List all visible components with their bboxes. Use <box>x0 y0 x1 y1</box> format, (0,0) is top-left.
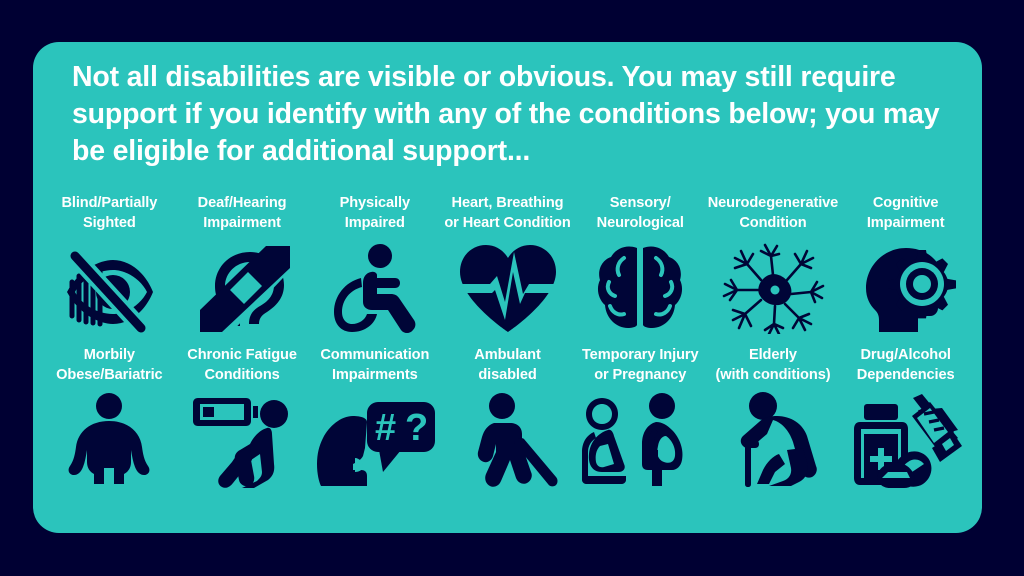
condition-label: Sensory/ Neurological <box>597 194 684 233</box>
head-gear-icon <box>856 242 956 334</box>
condition-row-1: Blind/Partially Sighted Deaf/Hearing <box>43 194 972 334</box>
condition-item-temporary-injury-pregnancy[interactable]: Temporary Injury or Pregnancy <box>574 346 707 486</box>
person-white-cane-icon <box>458 394 558 486</box>
condition-item-sensory-neurological[interactable]: Sensory/ Neurological <box>574 194 707 334</box>
neuron-icon <box>721 242 825 334</box>
condition-label: Chronic Fatigue Conditions <box>187 346 297 385</box>
page-title: Not all disabilities are visible or obvi… <box>72 59 952 170</box>
svg-text:#: # <box>375 407 396 449</box>
condition-label: Cognitive Impairment <box>867 194 945 233</box>
condition-label: Elderly (with conditions) <box>715 346 830 385</box>
low-battery-person-icon <box>190 394 294 486</box>
condition-label: Heart, Breathing or Heart Condition <box>444 194 570 233</box>
condition-item-elderly[interactable]: Elderly (with conditions) <box>707 346 840 486</box>
condition-label: Drug/Alcohol Dependencies <box>857 346 955 385</box>
brain-icon <box>594 242 686 334</box>
obese-person-icon <box>61 394 157 486</box>
medication-syringe-icon <box>850 394 962 486</box>
condition-item-neurodegenerative[interactable]: Neurodegenerative Condition <box>707 194 840 334</box>
condition-label: Communication Impairments <box>320 346 429 385</box>
condition-label: Deaf/Hearing Impairment <box>198 194 287 233</box>
condition-item-ambulant-disabled[interactable]: Ambulant disabled <box>441 346 574 486</box>
condition-label: Temporary Injury or Pregnancy <box>582 346 699 385</box>
condition-item-blind-partially-sighted[interactable]: Blind/Partially Sighted <box>43 194 176 334</box>
condition-label: Ambulant disabled <box>474 346 541 385</box>
wheelchair-icon <box>325 242 425 334</box>
heart-pulse-icon <box>456 242 560 334</box>
condition-item-heart-breathing[interactable]: Heart, Breathing or Heart Condition <box>441 194 574 334</box>
elderly-cane-icon <box>719 394 827 486</box>
condition-label: Physically Impaired <box>340 194 410 233</box>
svg-text:?: ? <box>405 407 428 449</box>
condition-item-communication-impairments[interactable]: Communication Impairments # ? <box>308 346 441 486</box>
sling-pregnant-icon <box>578 394 702 486</box>
condition-item-chronic-fatigue[interactable]: Chronic Fatigue Conditions <box>176 346 309 486</box>
condition-item-drug-alcohol-dependencies[interactable]: Drug/Alcohol Dependencies <box>839 346 972 486</box>
condition-label: Blind/Partially Sighted <box>61 194 157 233</box>
poster-canvas: Not all disabilities are visible or obvi… <box>0 0 1024 576</box>
ear-slash-icon <box>188 242 296 334</box>
info-card: Not all disabilities are visible or obvi… <box>33 42 982 533</box>
condition-item-deaf-hearing-impairment[interactable]: Deaf/Hearing Impairment <box>176 194 309 334</box>
condition-item-physically-impaired[interactable]: Physically Impaired <box>308 194 441 334</box>
condition-row-2: Morbily Obese/Bariatric Chronic Fatigue … <box>43 346 972 486</box>
head-speech-bubble-icon: # ? <box>309 394 441 486</box>
condition-item-cognitive-impairment[interactable]: Cognitive Impairment <box>839 194 972 334</box>
condition-item-morbidly-obese[interactable]: Morbily Obese/Bariatric <box>43 346 176 486</box>
condition-label: Morbily Obese/Bariatric <box>56 346 162 385</box>
condition-label: Neurodegenerative Condition <box>708 194 839 233</box>
eye-slash-icon <box>53 242 165 334</box>
